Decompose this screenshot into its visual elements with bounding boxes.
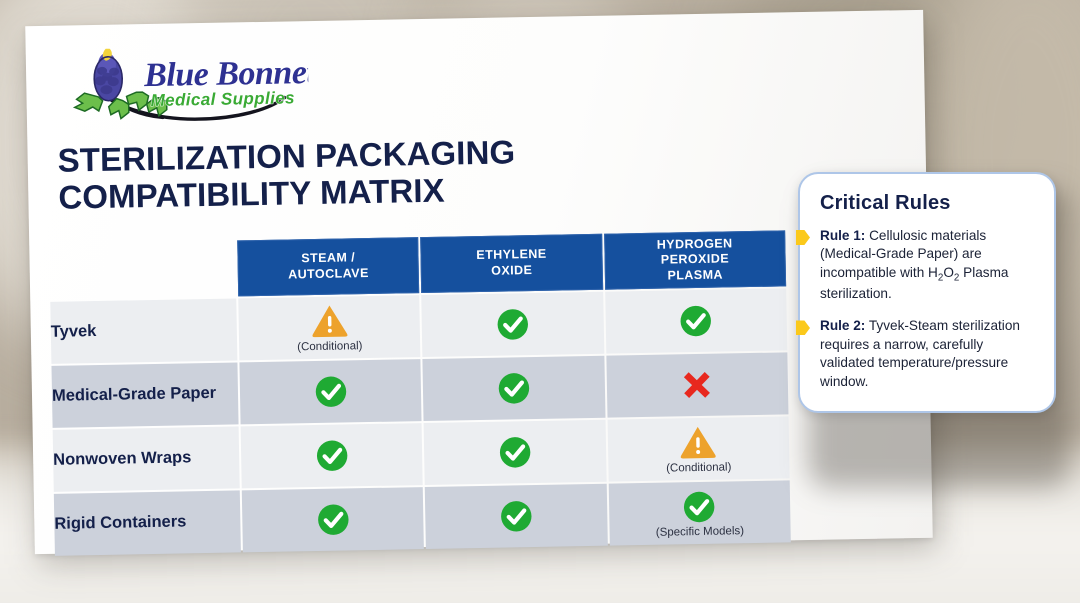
cell-nonwoven-wraps-ethylene-oxide <box>424 420 606 485</box>
cell-note: (Conditional) <box>666 463 731 476</box>
green-check-icon <box>680 487 719 526</box>
cell-rigid-containers-ethylene-oxide <box>425 484 607 549</box>
cell-tyvek-hydrogen-peroxide-plasma <box>605 288 787 353</box>
green-check-icon <box>497 497 536 536</box>
rule-item-1: Rule 1: Cellulosic materials (Medical-Gr… <box>820 227 1038 303</box>
column-header-line1: ETHYLENE <box>476 247 547 262</box>
critical-rules-panel: Critical Rules Rule 1: Cellulosic materi… <box>798 172 1056 413</box>
brand-logo: Blue Bonnet Medical Supplies <box>58 37 310 130</box>
cell-medical-grade-paper-steam <box>239 359 421 424</box>
yellow-arrow-bullet-icon <box>796 320 810 335</box>
cell-note: (Specific Models) <box>656 526 744 539</box>
table-row: Rigid Containers <box>54 480 791 555</box>
column-header-steam: STEAM / AUTOCLAVE <box>237 237 419 296</box>
table-row: Medical-Grade Paper <box>51 352 788 427</box>
rule-1-text: Rule 1: Cellulosic materials (Medical-Gr… <box>820 227 1038 303</box>
column-header-line1: STEAM / <box>301 251 355 266</box>
rule-1-body-mid: O <box>943 265 954 280</box>
row-label-nonwoven-wraps: Nonwoven Wraps <box>53 426 240 491</box>
warning-triangle-icon <box>310 302 349 341</box>
table-row: Tyvek (Conditional) <box>50 288 787 363</box>
column-header-line1: HYDROGEN <box>657 236 733 251</box>
bluebonnet-flower-icon: Blue Bonnet Medical Supplies <box>58 37 310 130</box>
rule-1-label: Rule 1: <box>820 228 865 243</box>
row-label-medical-grade-paper: Medical-Grade Paper <box>51 362 238 427</box>
page-title: Sterilization Packaging Compatibility Ma… <box>57 131 658 217</box>
compatibility-matrix-table: STEAM / AUTOCLAVE ETHYLENE OXIDE HYDROGE… <box>47 228 793 558</box>
cell-nonwoven-wraps-steam <box>241 423 423 488</box>
green-check-icon <box>311 372 350 411</box>
cell-rigid-containers-steam <box>242 487 424 552</box>
green-check-icon <box>496 433 535 472</box>
cell-nonwoven-wraps-hydrogen-peroxide-plasma: (Conditional) <box>607 416 789 481</box>
green-check-icon <box>314 500 353 539</box>
cell-note: (Conditional) <box>297 341 362 354</box>
cell-medical-grade-paper-ethylene-oxide <box>423 356 605 421</box>
column-header-line2: OXIDE <box>491 263 532 278</box>
cell-tyvek-ethylene-oxide <box>422 292 604 357</box>
poster-board: Blue Bonnet Medical Supplies Sterilizati… <box>25 10 933 554</box>
green-check-icon <box>493 305 532 344</box>
column-header-line3: PLASMA <box>667 267 723 282</box>
column-header-ethylene-oxide: ETHYLENE OXIDE <box>420 234 602 293</box>
cell-rigid-containers-hydrogen-peroxide-plasma: (Specific Models) <box>608 480 790 545</box>
cell-tyvek-steam: (Conditional) <box>238 295 420 360</box>
critical-rules-title: Critical Rules <box>820 192 1038 215</box>
rule-item-2: Rule 2: Tyvek-Steam sterilization requir… <box>820 317 1038 391</box>
green-check-icon <box>495 369 534 408</box>
column-header-hydrogen-peroxide-plasma: HYDROGEN PEROXIDE PLASMA <box>604 230 786 289</box>
red-x-icon <box>678 366 717 405</box>
row-label-rigid-containers: Rigid Containers <box>54 490 241 555</box>
column-header-line2: PEROXIDE <box>661 252 729 267</box>
column-header-line2: AUTOCLAVE <box>288 266 369 281</box>
row-label-tyvek: Tyvek <box>50 298 237 363</box>
rule-2-label: Rule 2: <box>820 318 865 333</box>
green-check-icon <box>312 436 351 475</box>
brand-name-secondary: Medical Supplies <box>150 88 295 110</box>
yellow-arrow-bullet-icon <box>796 230 810 245</box>
rule-2-text: Rule 2: Tyvek-Steam sterilization requir… <box>820 317 1038 391</box>
cell-medical-grade-paper-hydrogen-peroxide-plasma <box>606 352 788 417</box>
table-row: Nonwoven Wraps <box>53 416 790 491</box>
matrix-corner-cell <box>49 240 236 299</box>
warning-triangle-icon <box>679 423 718 462</box>
green-check-icon <box>677 302 716 341</box>
